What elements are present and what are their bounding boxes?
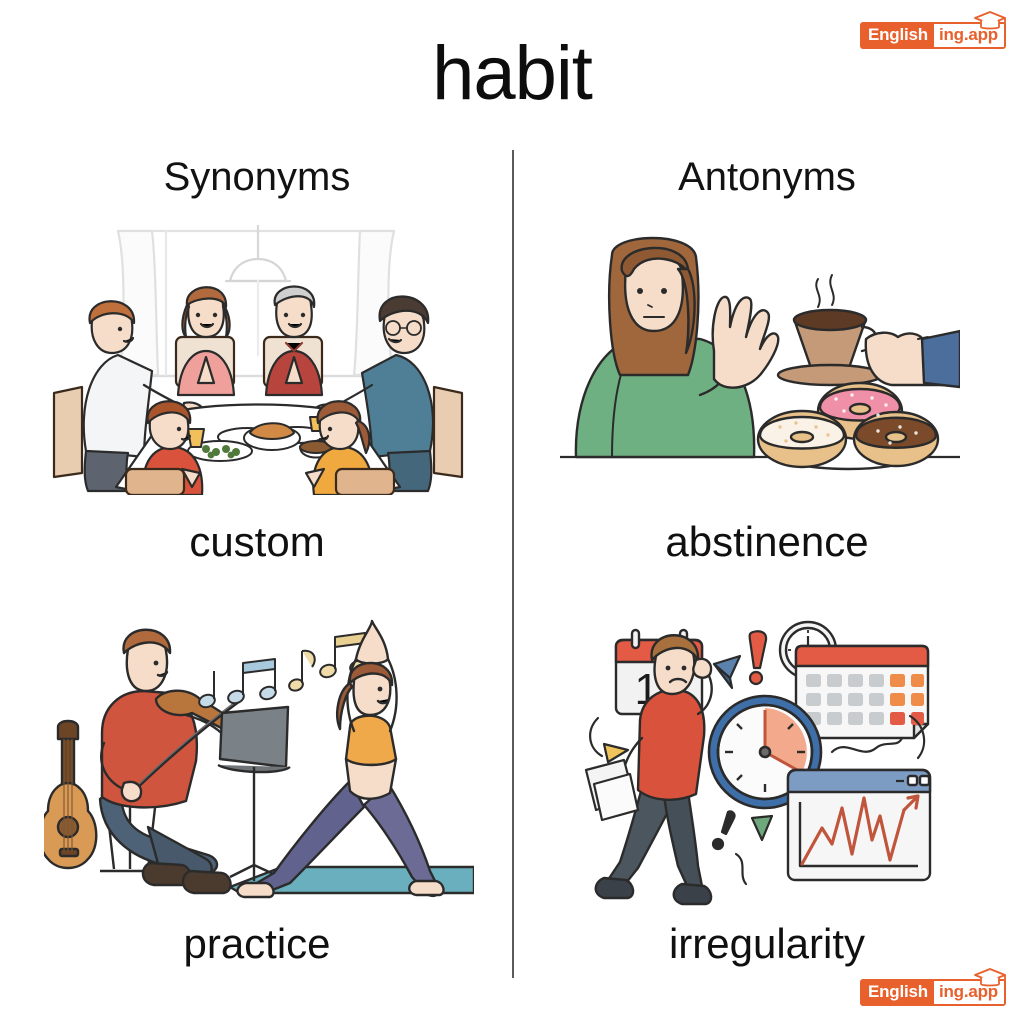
graduation-cap-icon (973, 9, 1007, 38)
word-label-abstinence: abstinence (552, 518, 982, 566)
word-label-irregularity: irregularity (552, 920, 982, 968)
brand-logo-bottom[interactable]: English ing.app (860, 979, 1006, 1006)
word-label-practice: practice (42, 920, 472, 968)
column-heading-synonyms: Synonyms (42, 155, 472, 200)
illustration-abstinence (560, 235, 960, 485)
illustration-custom (48, 225, 468, 495)
infographic-page: English ing.app habit Synonyms Antonyms (0, 0, 1024, 1024)
column-divider (512, 150, 514, 978)
illustration-irregularity: 19 (580, 612, 950, 912)
word-label-custom: custom (42, 518, 472, 566)
page-title: habit (0, 36, 1024, 112)
logo-text-english: English (862, 981, 934, 1004)
illustration-practice (44, 615, 474, 905)
column-heading-antonyms: Antonyms (552, 155, 982, 200)
graduation-cap-icon (973, 966, 1007, 995)
